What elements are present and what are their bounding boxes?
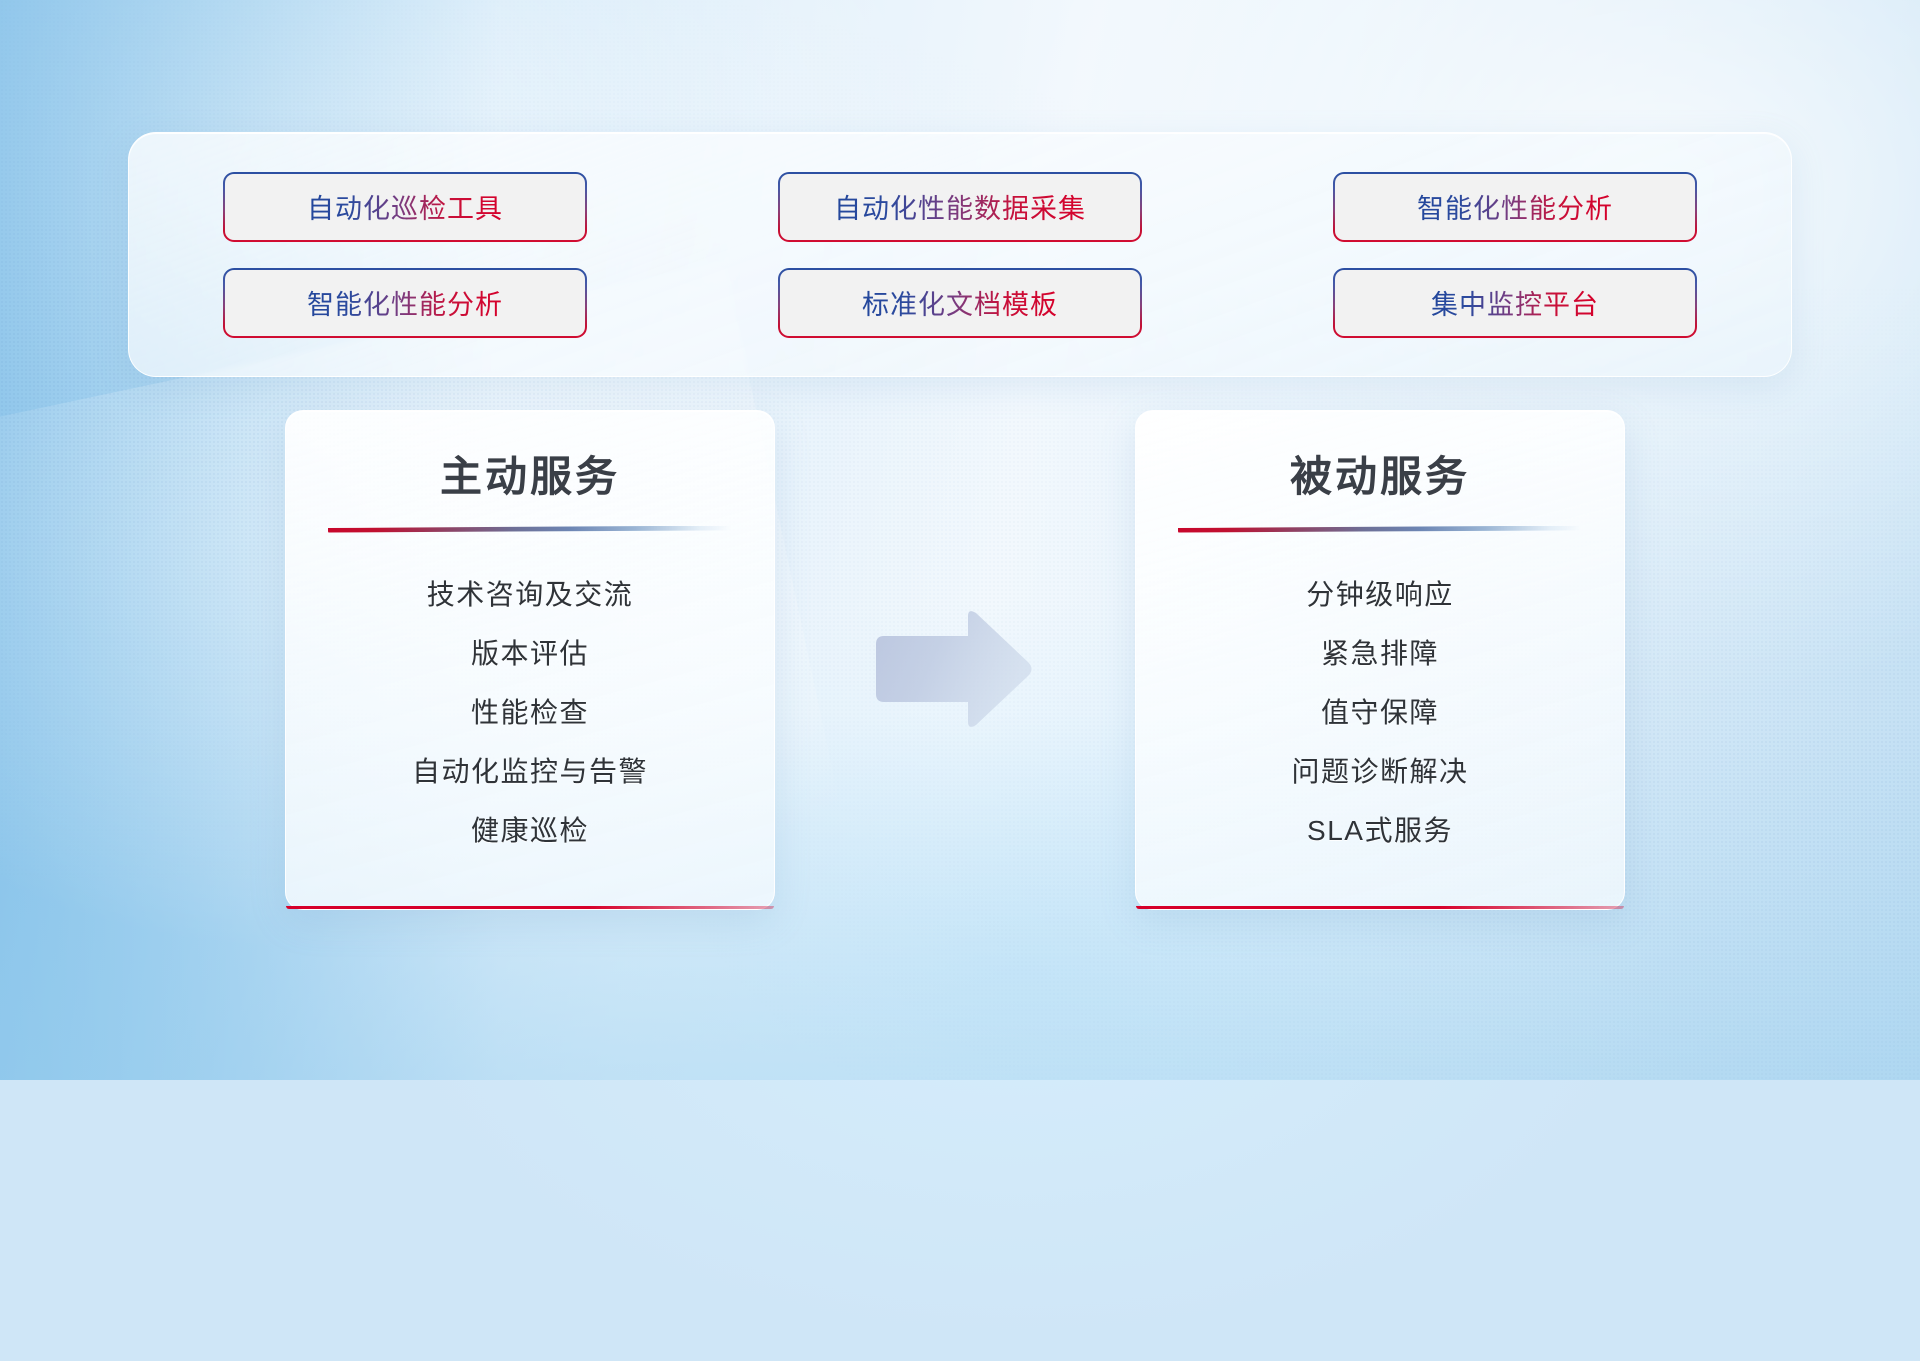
- diagram-stage: 自动化巡检工具 自动化性能数据采集 智能化性能分析 智能化性能分析 标准化文档模…: [0, 0, 1920, 1080]
- service-card-title: 主动服务: [322, 451, 738, 504]
- capability-row-1: 自动化巡检工具 自动化性能数据采集 智能化性能分析: [225, 174, 1695, 240]
- capability-button-intelligent-performance-analysis-bottom[interactable]: 智能化性能分析: [225, 270, 585, 336]
- list-item: 性能检查: [471, 683, 589, 742]
- service-card-divider: [1178, 526, 1582, 535]
- list-item: 技术咨询及交流: [427, 565, 634, 624]
- list-item: 问题诊断解决: [1291, 742, 1468, 801]
- capability-button-label: 智能化性能分析: [307, 283, 503, 322]
- arrow-right-icon: [872, 608, 1034, 730]
- list-item: 健康巡检: [471, 801, 589, 860]
- capability-panel: 自动化巡检工具 自动化性能数据采集 智能化性能分析 智能化性能分析 标准化文档模…: [128, 132, 1792, 377]
- list-item: 版本评估: [471, 624, 589, 683]
- list-item: 值守保障: [1321, 683, 1439, 742]
- service-card-reactive: 被动服务 分钟级响应 紧急排障 值守保障 问题诊断解决 SLA式服务: [1135, 410, 1625, 910]
- capability-button-centralized-monitoring-platform[interactable]: 集中监控平台: [1335, 270, 1695, 336]
- service-card-item-list: 分钟级响应 紧急排障 值守保障 问题诊断解决 SLA式服务: [1172, 565, 1588, 860]
- list-item: 紧急排障: [1321, 624, 1439, 683]
- service-card-item-list: 技术咨询及交流 版本评估 性能检查 自动化监控与告警 健康巡检: [322, 565, 738, 860]
- capability-button-label: 集中监控平台: [1431, 283, 1599, 322]
- capability-button-standardized-document-template[interactable]: 标准化文档模板: [780, 270, 1140, 336]
- capability-button-label: 标准化文档模板: [862, 283, 1058, 322]
- list-item: 分钟级响应: [1306, 565, 1454, 624]
- capability-button-intelligent-performance-analysis-top[interactable]: 智能化性能分析: [1335, 174, 1695, 240]
- capability-button-automated-performance-data-collection[interactable]: 自动化性能数据采集: [780, 174, 1140, 240]
- capability-button-label: 自动化巡检工具: [307, 187, 503, 226]
- capability-button-label: 智能化性能分析: [1417, 187, 1613, 226]
- list-item: 自动化监控与告警: [412, 742, 648, 801]
- service-card-title: 被动服务: [1172, 451, 1588, 504]
- list-item: SLA式服务: [1307, 801, 1453, 860]
- capability-button-label: 自动化性能数据采集: [834, 187, 1086, 226]
- service-card-divider: [328, 526, 732, 535]
- service-card-proactive: 主动服务 技术咨询及交流 版本评估 性能检查 自动化监控与告警 健康巡检: [285, 410, 775, 910]
- capability-button-automated-inspection-tool[interactable]: 自动化巡检工具: [225, 174, 585, 240]
- capability-row-2: 智能化性能分析 标准化文档模板 集中监控平台: [225, 270, 1695, 336]
